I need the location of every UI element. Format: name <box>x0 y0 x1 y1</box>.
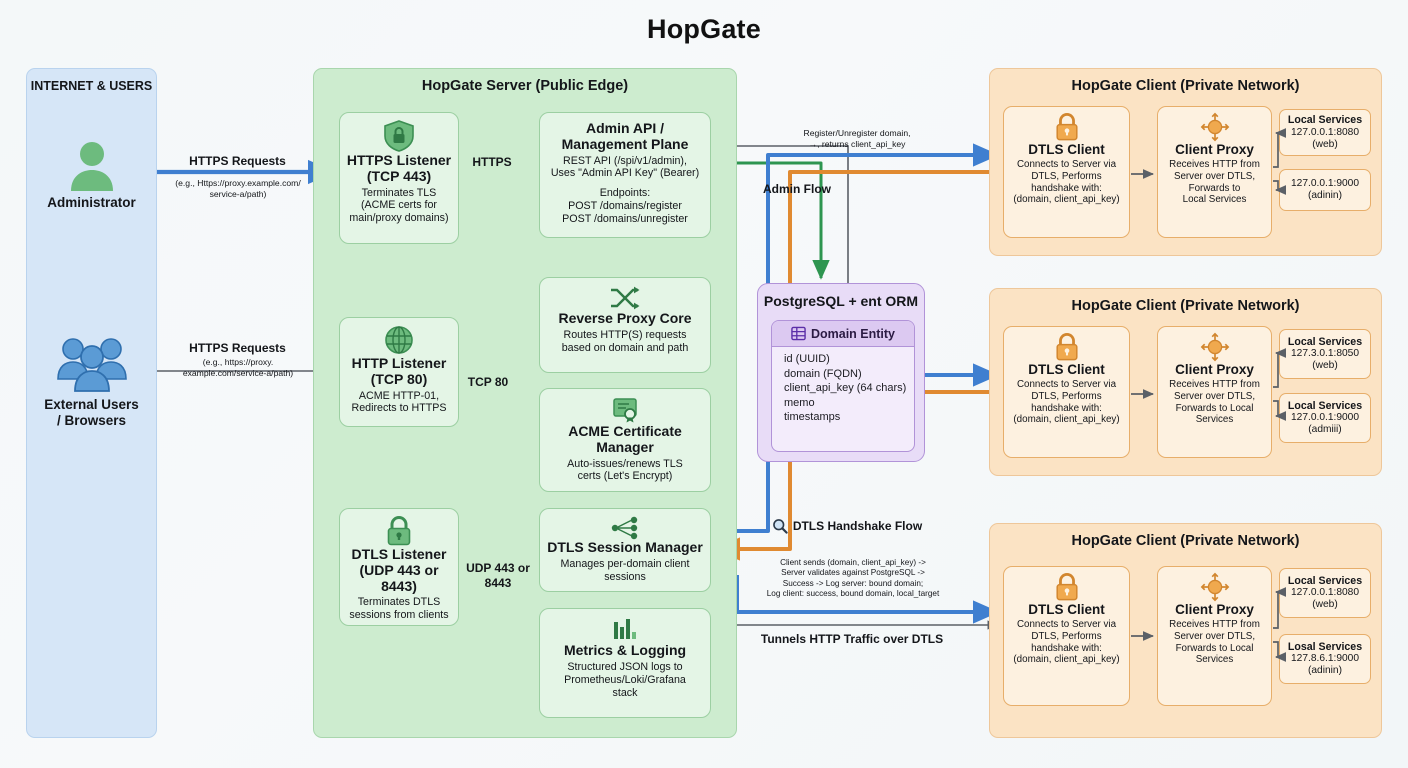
client-inner-connectors <box>990 524 1383 739</box>
shuffle-icon <box>608 285 642 311</box>
label-admin-flow: Admin Flow <box>742 182 852 197</box>
padlock-icon <box>384 515 414 547</box>
certificate-icon <box>611 396 639 424</box>
box-desc: Auto-issues/renews TLS certs (Let's Encr… <box>546 458 704 484</box>
box-dtls-session-manager[interactable]: DTLS Session Manager Manages per-domain … <box>539 508 711 592</box>
shield-lock-icon <box>382 119 416 153</box>
label-register-unregister: Register/Unregister domain, →, returns c… <box>742 128 972 149</box>
entity-field-list: id (UUID) domain (FQDN) client_api_key (… <box>772 347 914 425</box>
box-postgresql-ent-orm[interactable]: PostgreSQL + ent ORM Domain Entity id (U… <box>757 283 925 462</box>
dtls-handshake-body: Client sends (domain, client_api_key) ->… <box>737 558 969 599</box>
box-desc: ACME HTTP-01, Redirects to HTTPS <box>346 390 452 416</box>
client-inner-connectors <box>990 69 1383 257</box>
entity-domain: Domain Entity id (UUID) domain (FQDN) cl… <box>771 320 915 452</box>
table-icon <box>791 326 806 341</box>
actor-administrator: Administrator <box>27 139 156 211</box>
label-tunnels-http-over-dtls: Tunnels HTTP Traffic over DTLS <box>712 632 992 647</box>
dtls-handshake-title: DTLS Handshake Flow <box>793 519 922 533</box>
box-title: Metrics & Logging <box>546 643 704 659</box>
actor-label: External Users / Browsers <box>27 397 156 428</box>
magnifier-icon <box>772 518 788 534</box>
entity-field: memo <box>784 396 914 411</box>
zone-hopgate-client-2: HopGate Client (Private Network) DTLS Cl… <box>989 288 1382 476</box>
box-desc: Terminates DTLS sessions from clients <box>346 596 452 622</box>
single-user-icon <box>67 139 117 191</box>
entity-field: timestamps <box>784 410 914 425</box>
box-desc: Routes HTTP(S) requests based on domain … <box>546 329 704 355</box>
share-nodes-icon <box>610 516 640 540</box>
entity-field: domain (FQDN) <box>784 367 914 382</box>
entity-name: Domain Entity <box>811 327 895 341</box>
box-admin-api[interactable]: Admin API / Management Plane REST API (/… <box>539 112 711 238</box>
bar-chart-icon <box>611 617 639 643</box>
zone-hopgate-client-1: HopGate Client (Private Network) DTLS Cl… <box>989 68 1382 256</box>
box-subtitle: (UDP 443 or 8443) <box>346 563 452 595</box>
label-users-https-example: (e.g., https://proxy. example.com/servic… <box>143 357 333 378</box>
entity-header: Domain Entity <box>772 321 914 347</box>
label-https: HTTPS <box>462 155 522 170</box>
box-title: ACME Certificate Manager <box>546 424 704 456</box>
box-desc: Structured JSON logs to Prometheus/Loki/… <box>546 661 704 700</box>
zone-hopgate-client-3: HopGate Client (Private Network) DTLS Cl… <box>989 523 1382 738</box>
actor-label: Administrator <box>27 195 156 211</box>
box-title: HTTP Listener <box>346 356 452 372</box>
label-admin-https: HTTPS Requests <box>150 154 325 169</box>
label-tcp80: TCP 80 <box>457 375 519 390</box>
globe-icon <box>383 324 415 356</box>
entity-field: id (UUID) <box>784 352 914 367</box>
dtls-handshake-flow-header: DTLS Handshake Flow <box>752 516 942 536</box>
box-subtitle: (TCP 80) <box>346 372 452 388</box>
box-acme-cert-manager[interactable]: ACME Certificate Manager Auto-issues/ren… <box>539 388 711 492</box>
zone-internet-users: INTERNET & USERS Administrator External … <box>26 68 157 738</box>
box-subtitle: (TCP 443) <box>346 169 452 185</box>
diagram-canvas: HopGate INTERNET & USERS Administrator E… <box>0 0 1408 768</box>
box-desc: REST API (/spi/v1/admin), Uses "Admin AP… <box>546 155 704 181</box>
box-desc: Manages per-domain client sessions <box>546 558 704 584</box>
actor-external-users: External Users / Browsers <box>27 335 156 428</box>
box-title: Admin API / Management Plane <box>546 121 704 153</box>
box-endpoints: Endpoints: POST /domains/register POST /… <box>546 187 704 226</box>
label-udp443: UDP 443 or 8443 <box>464 561 532 590</box>
box-http-listener[interactable]: HTTP Listener (TCP 80) ACME HTTP-01, Red… <box>339 317 459 427</box>
db-title: PostgreSQL + ent ORM <box>758 293 924 309</box>
box-title: HTTPS Listener <box>346 153 452 169</box>
box-title: Reverse Proxy Core <box>546 311 704 327</box>
box-title: DTLS Listener <box>346 547 452 563</box>
label-admin-https-example: (e.g., Https://proxy.example.com/ servic… <box>143 178 333 199</box>
zone-internet-title: INTERNET & USERS <box>27 79 156 93</box>
box-desc: Terminates TLS (ACME certs for main/prox… <box>346 187 452 226</box>
client-inner-connectors <box>990 289 1383 477</box>
entity-field: client_api_key (64 chars) <box>784 381 914 396</box>
box-https-listener[interactable]: HTTPS Listener (TCP 443) Terminates TLS … <box>339 112 459 244</box>
box-dtls-listener[interactable]: DTLS Listener (UDP 443 or 8443) Terminat… <box>339 508 459 626</box>
label-users-https: HTTPS Requests <box>150 341 325 356</box>
multi-user-icon <box>56 335 128 393</box>
box-reverse-proxy-core[interactable]: Reverse Proxy Core Routes HTTP(S) reques… <box>539 277 711 373</box>
box-title: DTLS Session Manager <box>546 540 704 556</box>
page-title: HopGate <box>0 14 1408 45</box>
box-metrics-logging[interactable]: Metrics & Logging Structured JSON logs t… <box>539 608 711 718</box>
zone-server-title: HopGate Server (Public Edge) <box>314 78 736 94</box>
